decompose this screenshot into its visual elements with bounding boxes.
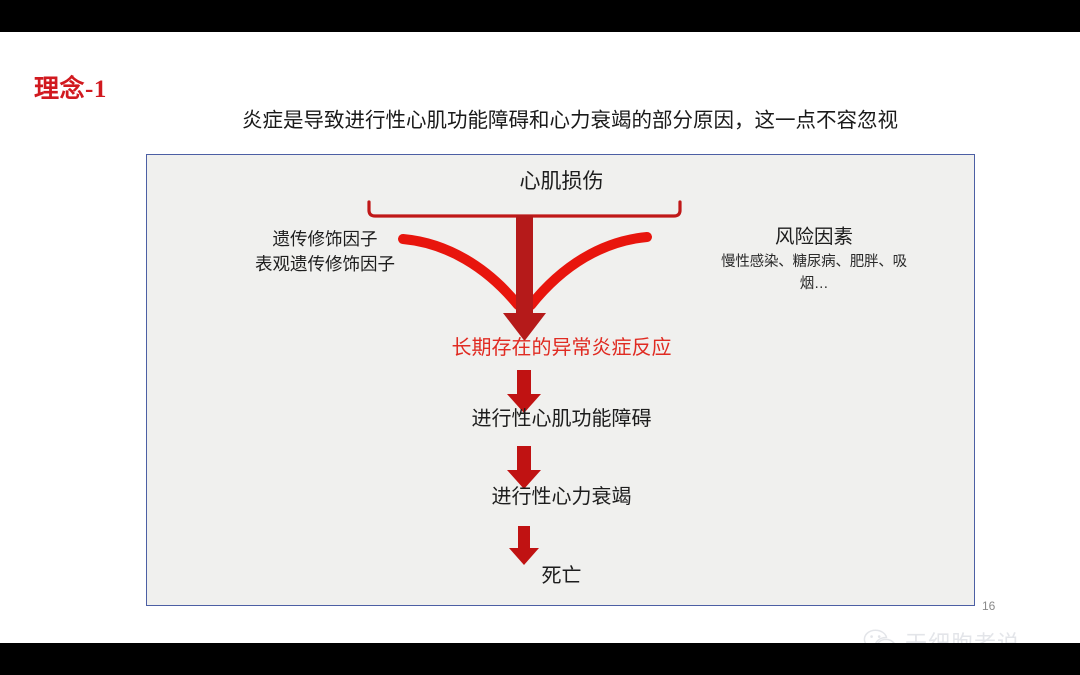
node-chronic-inflammation: 长期存在的异常炎症反应: [147, 331, 976, 360]
node-progressive-heart-failure: 进行性心力衰竭: [147, 480, 976, 509]
main-down-arrow-icon: [503, 215, 546, 341]
page-number: 16: [982, 599, 995, 613]
letterbox-bar-bottom: [0, 643, 1080, 675]
diagram-graphics: [147, 155, 976, 607]
annotation-risk-factors: 风险因素 慢性感染、糖尿病、肥胖、吸烟…: [695, 225, 933, 295]
letterbox-bar-top: [0, 0, 1080, 32]
node-myocardial-injury: 心肌损伤: [147, 165, 976, 195]
page-title: 理念-1: [34, 69, 107, 105]
slide-subtitle: 炎症是导致进行性心肌功能障碍和心力衰竭的部分原因，这一点不容忽视: [0, 103, 1080, 133]
annotation-risk-heading: 风险因素: [695, 225, 933, 250]
brace-icon: [369, 202, 680, 216]
annotation-genetic-line-1: 遗传修饰因子: [209, 227, 441, 252]
annotation-genetic-modifiers: 遗传修饰因子 表观遗传修饰因子: [209, 227, 441, 277]
annotation-genetic-line-2: 表观遗传修饰因子: [209, 252, 441, 277]
node-progressive-dysfunction: 进行性心肌功能障碍: [147, 402, 976, 431]
slide-stage: 理念-1 炎症是导致进行性心肌功能障碍和心力衰竭的部分原因，这一点不容忽视: [0, 0, 1080, 675]
annotation-risk-detail: 慢性感染、糖尿病、肥胖、吸烟…: [695, 250, 933, 294]
slide-canvas: 理念-1 炎症是导致进行性心肌功能障碍和心力衰竭的部分原因，这一点不容忽视: [0, 32, 1080, 643]
funnel-right-curve: [531, 237, 647, 305]
node-death: 死亡: [147, 559, 976, 588]
diagram-panel: 心肌损伤 长期存在的异常炎症反应 进行性心肌功能障碍 进行性心力衰竭 死亡 遗传…: [146, 154, 975, 606]
